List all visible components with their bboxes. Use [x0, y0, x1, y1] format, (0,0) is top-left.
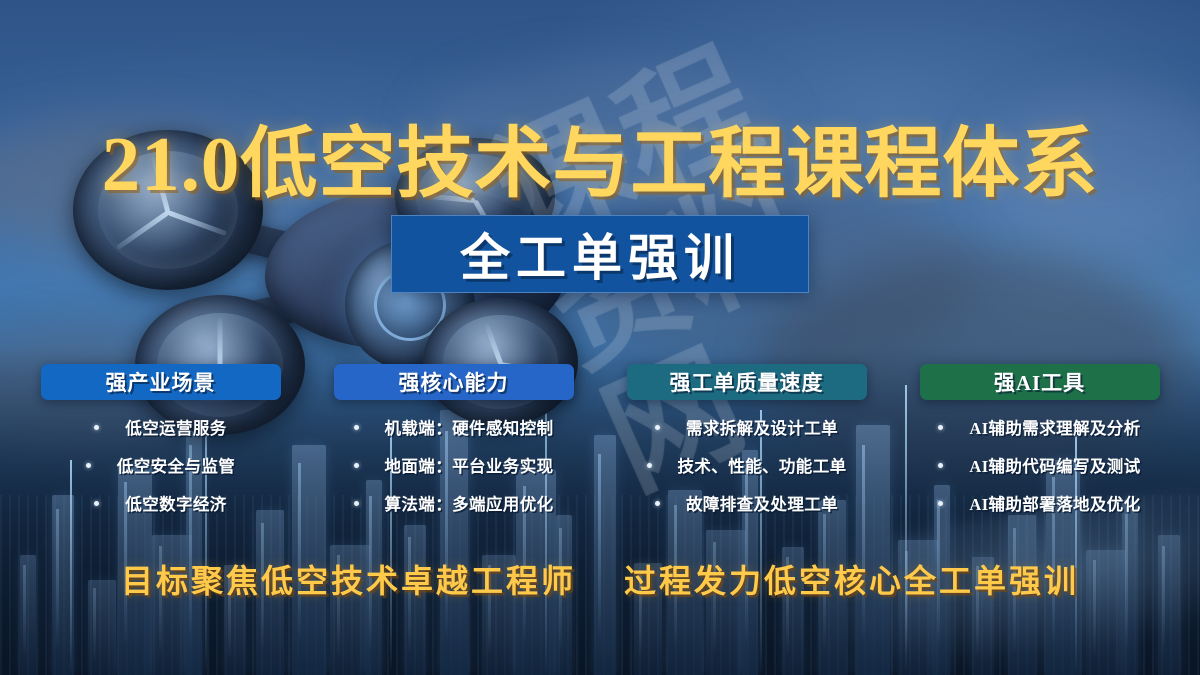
list-item-label: 需求拆解及设计工单: [686, 415, 838, 439]
bullet-icon: [938, 463, 943, 468]
list-item-label: 算法端：多端应用优化: [385, 491, 554, 515]
footer-taglines: 目标聚焦低空技术卓越工程师 过程发力低空核心全工单强训: [0, 556, 1200, 602]
list-item: 需求拆解及设计工单: [600, 415, 893, 439]
pillar-column-1: 强产业场景 低空运营服务 低空安全与监管 低空数字经济: [14, 364, 307, 529]
list-item: AI辅助需求理解及分析: [893, 415, 1186, 439]
list-item: 故障排查及处理工单: [600, 491, 893, 515]
bullet-icon: [938, 425, 943, 430]
list-item-label: 技术、性能、功能工单: [678, 453, 847, 477]
bullet-icon: [94, 425, 99, 430]
pillars-grid: 强产业场景 低空运营服务 低空安全与监管 低空数字经济: [0, 364, 1200, 529]
list-item-label: AI辅助部署落地及优化: [969, 491, 1140, 515]
pillar-header-2[interactable]: 强核心能力: [334, 364, 574, 400]
list-item: AI辅助代码编写及测试: [893, 453, 1186, 477]
pillar-header-4[interactable]: 强AI工具: [920, 364, 1160, 400]
pillar-items-3: 需求拆解及设计工单 技术、性能、功能工单 故障排查及处理工单: [600, 415, 893, 529]
list-item: AI辅助部署落地及优化: [893, 491, 1186, 515]
list-item-label: 地面端：平台业务实现: [385, 453, 554, 477]
pillar-header-3[interactable]: 强工单质量速度: [627, 364, 867, 400]
pillar-header-label: 强产业场景: [106, 367, 216, 397]
pillar-header-label: 强工单质量速度: [670, 367, 824, 397]
pillar-column-4: 强AI工具 AI辅助需求理解及分析 AI辅助代码编写及测试 AI辅助部署落地及优…: [893, 364, 1186, 529]
bullet-icon: [94, 501, 99, 506]
pillar-header-label: 强核心能力: [399, 367, 509, 397]
bullet-icon: [86, 463, 91, 468]
list-item: 低空安全与监管: [14, 453, 307, 477]
list-item-label: 低空运营服务: [125, 415, 226, 439]
pillar-items-1: 低空运营服务 低空安全与监管 低空数字经济: [14, 415, 307, 529]
subtitle-banner: 全工单强训: [391, 215, 809, 293]
list-item: 机载端：硬件感知控制: [307, 415, 600, 439]
list-item-label: 故障排查及处理工单: [686, 491, 838, 515]
poster-title: 21.0低空技术与工程课程体系: [0, 102, 1200, 213]
bullet-icon: [647, 463, 652, 468]
list-item-label: 低空数字经济: [125, 491, 226, 515]
pillar-header-1[interactable]: 强产业场景: [41, 364, 281, 400]
bullet-icon: [938, 501, 943, 506]
pillar-items-2: 机载端：硬件感知控制 地面端：平台业务实现 算法端：多端应用优化: [307, 415, 600, 529]
pillar-items-4: AI辅助需求理解及分析 AI辅助代码编写及测试 AI辅助部署落地及优化: [893, 415, 1186, 529]
bullet-icon: [354, 501, 359, 506]
list-item-label: 机载端：硬件感知控制: [385, 415, 554, 439]
list-item: 技术、性能、功能工单: [600, 453, 893, 477]
list-item: 算法端：多端应用优化: [307, 491, 600, 515]
bullet-icon: [354, 463, 359, 468]
list-item-label: AI辅助代码编写及测试: [969, 453, 1140, 477]
bullet-icon: [655, 425, 660, 430]
pillar-header-label: 强AI工具: [994, 367, 1085, 397]
list-item: 低空数字经济: [14, 491, 307, 515]
pillar-column-3: 强工单质量速度 需求拆解及设计工单 技术、性能、功能工单 故障排查及处理工单: [600, 364, 893, 529]
list-item-label: 低空安全与监管: [117, 453, 235, 477]
poster-content: 21.0低空技术与工程课程体系 全工单强训 强产业场景 低空运营服务 低空安全与…: [0, 0, 1200, 675]
list-item-label: AI辅助需求理解及分析: [969, 415, 1140, 439]
footer-tagline-1: 目标聚焦低空技术卓越工程师: [121, 556, 576, 602]
subtitle-banner-label: 全工单强训: [460, 218, 740, 290]
footer-tagline-2: 过程发力低空核心全工单强训: [624, 556, 1079, 602]
list-item: 低空运营服务: [14, 415, 307, 439]
poster-canvas: 课程 资料 网 21.0低空技术与工程课程体系 全工单强训 强产业场景 低空运营…: [0, 0, 1200, 675]
list-item: 地面端：平台业务实现: [307, 453, 600, 477]
pillar-column-2: 强核心能力 机载端：硬件感知控制 地面端：平台业务实现 算法端：多端应用优化: [307, 364, 600, 529]
bullet-icon: [354, 425, 359, 430]
bullet-icon: [655, 501, 660, 506]
